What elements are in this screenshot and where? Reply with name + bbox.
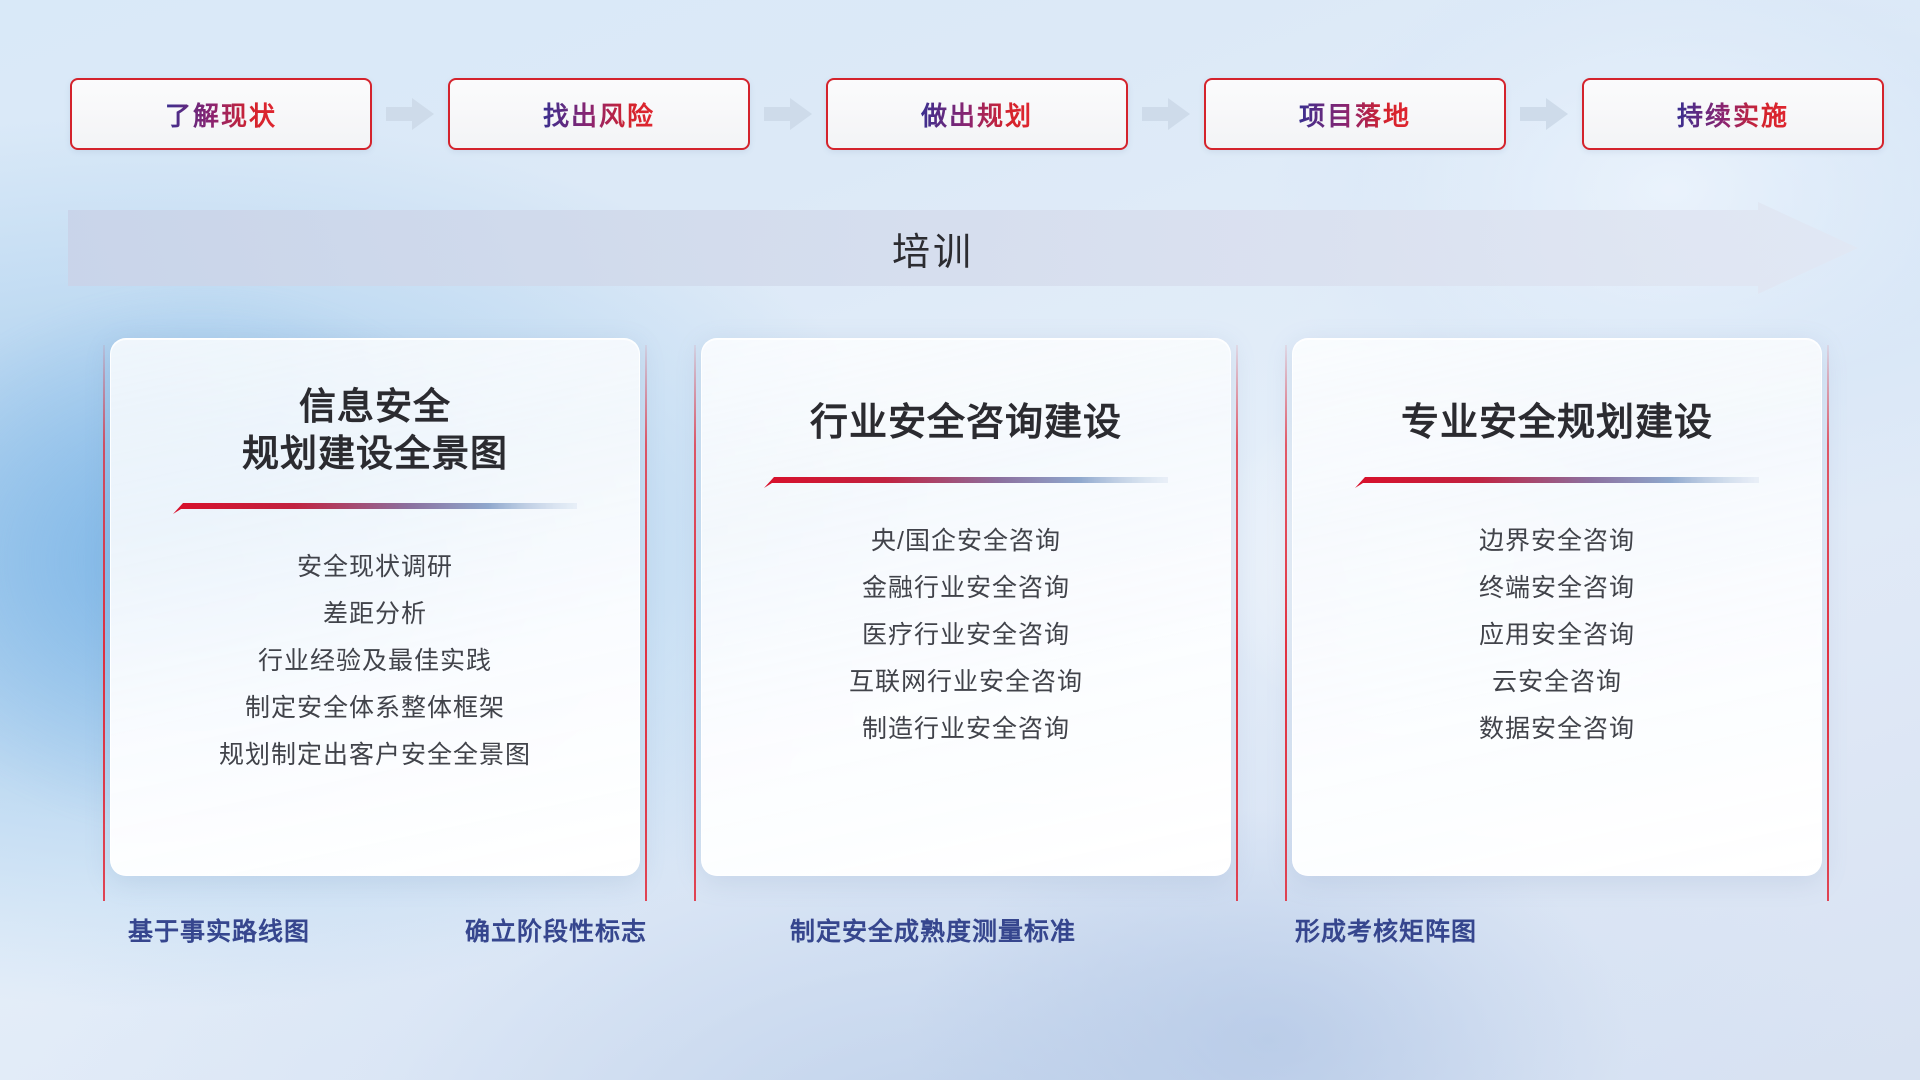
card-title-line: 专业安全规划建设 <box>1401 399 1713 448</box>
list-item: 医疗行业安全咨询 <box>736 612 1196 659</box>
step-label-5: 持续实施 <box>1677 96 1789 133</box>
list-item: 制造行业安全咨询 <box>736 706 1196 753</box>
slide-canvas: 了解现状 找出风险 做出规划 项目落地 <box>0 0 1920 1080</box>
card-group: 信息安全 规划建设全景图 <box>110 338 1822 876</box>
training-banner-label: 培训 <box>68 202 1858 294</box>
step-label-4: 项目落地 <box>1299 96 1411 133</box>
card-item-list: 边界安全咨询 终端安全咨询 应用安全咨询 云安全咨询 数据安全咨询 <box>1327 518 1787 753</box>
card-item-list: 安全现状调研 差距分析 行业经验及最佳实践 制定安全体系整体框架 规划制定出客户… <box>145 544 605 779</box>
card-divider <box>1355 476 1759 488</box>
card-divider <box>764 476 1168 488</box>
step-box-4[interactable]: 项目落地 <box>1204 78 1506 150</box>
list-item: 云安全咨询 <box>1327 659 1787 706</box>
card-professional-security-planning[interactable]: 专业安全规划建设 边界安 <box>1292 338 1822 876</box>
card-divider <box>173 502 577 514</box>
chevron-right-icon <box>760 94 816 134</box>
list-item: 央/国企安全咨询 <box>736 518 1196 565</box>
caption-2: 确立阶段性标志 <box>465 912 647 948</box>
list-item: 行业经验及最佳实践 <box>145 638 605 685</box>
list-item: 制定安全体系整体框架 <box>145 685 605 732</box>
caption-1: 基于事实路线图 <box>128 912 310 948</box>
card-title: 专业安全规划建设 <box>1401 383 1713 448</box>
list-item: 应用安全咨询 <box>1327 612 1787 659</box>
chevron-right-icon <box>382 94 438 134</box>
list-item: 终端安全咨询 <box>1327 565 1787 612</box>
caption-3: 制定安全成熟度测量标准 <box>790 912 1076 948</box>
list-item: 金融行业安全咨询 <box>736 565 1196 612</box>
list-item: 互联网行业安全咨询 <box>736 659 1196 706</box>
step-box-3[interactable]: 做出规划 <box>826 78 1128 150</box>
chevron-right-icon <box>1516 94 1572 134</box>
list-item: 安全现状调研 <box>145 544 605 591</box>
list-item: 差距分析 <box>145 591 605 638</box>
list-item: 规划制定出客户安全全景图 <box>145 732 605 779</box>
step-label-3: 做出规划 <box>921 96 1033 133</box>
card-title: 信息安全 规划建设全景图 <box>242 383 508 478</box>
card-title-line: 信息安全 <box>242 383 508 430</box>
step-label-2: 找出风险 <box>543 96 655 133</box>
step-label-1: 了解现状 <box>165 96 277 133</box>
card-title-line: 规划建设全景图 <box>242 430 508 477</box>
card-title: 行业安全咨询建设 <box>810 383 1122 448</box>
process-step-flow: 了解现状 找出风险 做出规划 项目落地 <box>70 78 1850 150</box>
step-box-1[interactable]: 了解现状 <box>70 78 372 150</box>
card-title-line: 行业安全咨询建设 <box>810 399 1122 448</box>
caption-row: 基于事实路线图 确立阶段性标志 制定安全成熟度测量标准 形成考核矩阵图 <box>0 912 1920 956</box>
training-banner: 培训 <box>68 202 1858 294</box>
list-item: 数据安全咨询 <box>1327 706 1787 753</box>
step-box-5[interactable]: 持续实施 <box>1582 78 1884 150</box>
list-item: 边界安全咨询 <box>1327 518 1787 565</box>
card-information-security-panorama[interactable]: 信息安全 规划建设全景图 <box>110 338 640 876</box>
card-industry-security-consulting[interactable]: 行业安全咨询建设 央/国 <box>701 338 1231 876</box>
card-item-list: 央/国企安全咨询 金融行业安全咨询 医疗行业安全咨询 互联网行业安全咨询 制造行… <box>736 518 1196 753</box>
step-box-2[interactable]: 找出风险 <box>448 78 750 150</box>
chevron-right-icon <box>1138 94 1194 134</box>
caption-4: 形成考核矩阵图 <box>1295 912 1477 948</box>
